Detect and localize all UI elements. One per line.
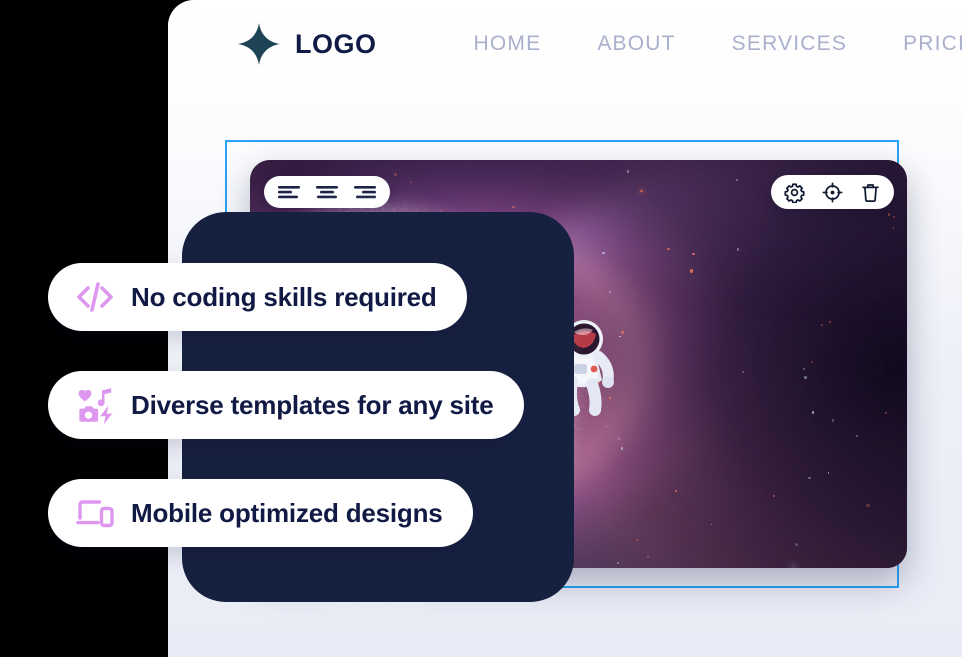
four-point-star-icon (237, 22, 281, 66)
brand-name: LOGO (295, 29, 377, 60)
image-action-toolbar[interactable] (771, 175, 894, 209)
templates-grid-icon (75, 385, 115, 425)
nav-link-home[interactable]: HOME (474, 32, 542, 56)
brand-logo[interactable]: LOGO (237, 22, 377, 66)
feature-pill-label: Diverse templates for any site (131, 390, 494, 421)
feature-pill-templates[interactable]: Diverse templates for any site (48, 371, 524, 439)
feature-pill-label: No coding skills required (131, 282, 437, 313)
gear-icon[interactable] (784, 182, 805, 203)
code-brackets-icon (75, 277, 115, 317)
nav-link-pricing[interactable]: PRICING (903, 32, 962, 56)
trash-icon[interactable] (860, 182, 881, 203)
crosshair-icon[interactable] (822, 182, 843, 203)
nav-link-services[interactable]: SERVICES (732, 32, 847, 56)
feature-pill-label: Mobile optimized designs (131, 498, 443, 529)
devices-responsive-icon (75, 493, 115, 533)
main-nav: HOME ABOUT SERVICES PRICING (474, 32, 962, 56)
feature-pill-mobile[interactable]: Mobile optimized designs (48, 479, 473, 547)
site-header: LOGO HOME ABOUT SERVICES PRICING (168, 0, 962, 140)
feature-pill-no-coding[interactable]: No coding skills required (48, 263, 467, 331)
nav-link-about[interactable]: ABOUT (597, 32, 675, 56)
